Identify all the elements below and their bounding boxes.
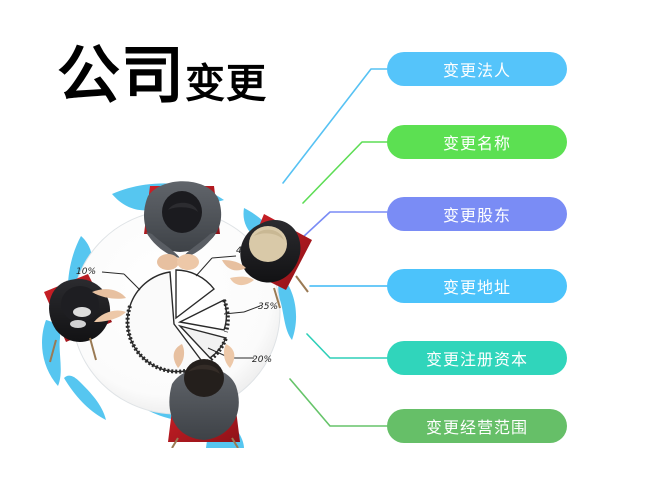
change-option-label: 变更注册资本 xyxy=(426,346,528,370)
change-option-label: 变更股东 xyxy=(443,202,511,226)
change-option-button-3[interactable]: 变更地址 xyxy=(387,269,567,303)
change-option-button-1[interactable]: 变更名称 xyxy=(387,125,567,159)
person-bottom xyxy=(168,344,240,448)
pie-label-3: 20% xyxy=(252,355,272,365)
slide-canvas: 公司变更 xyxy=(0,0,659,498)
meeting-photo: 10% 40% 35% 20% xyxy=(28,172,328,448)
change-option-label: 变更经营范围 xyxy=(426,414,528,438)
connector-line-1 xyxy=(283,69,387,183)
change-option-button-5[interactable]: 变更经营范围 xyxy=(387,409,567,443)
change-option-label: 变更地址 xyxy=(443,274,511,298)
change-option-button-2[interactable]: 变更股东 xyxy=(387,197,567,231)
change-option-label: 变更名称 xyxy=(443,130,511,154)
change-option-button-0[interactable]: 变更法人 xyxy=(387,52,567,86)
change-option-label: 变更法人 xyxy=(443,57,511,81)
change-option-button-4[interactable]: 变更注册资本 xyxy=(387,341,567,375)
pie-label-2: 35% xyxy=(258,302,278,312)
